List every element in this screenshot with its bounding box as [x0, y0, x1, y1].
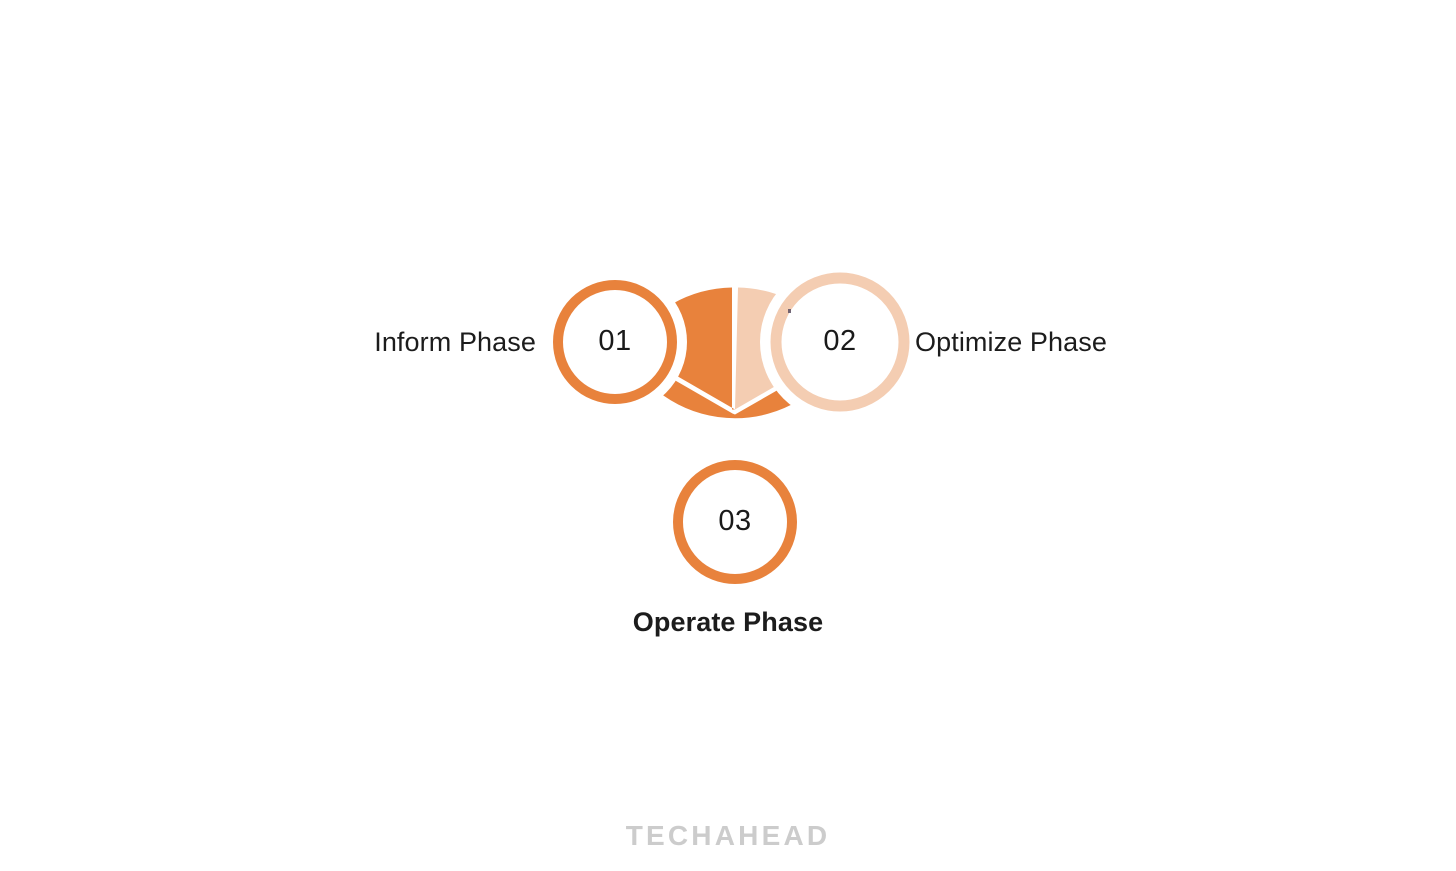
process-wheel-graphic	[0, 0, 1456, 866]
phase-label-inform: Inform Phase	[374, 329, 536, 356]
step-number-01: 01	[565, 327, 665, 356]
phase-label-operate: Operate Phase	[0, 609, 1456, 636]
process-diagram: 01 02 03 Inform Phase Optimize Phase Ope…	[0, 0, 1456, 866]
step-number-02: 02	[790, 327, 890, 356]
step-number-03: 03	[685, 507, 785, 536]
artifact-speck	[788, 309, 791, 313]
techahead-watermark: TECHAHEAD	[0, 822, 1456, 850]
phase-label-optimize: Optimize Phase	[915, 329, 1107, 356]
